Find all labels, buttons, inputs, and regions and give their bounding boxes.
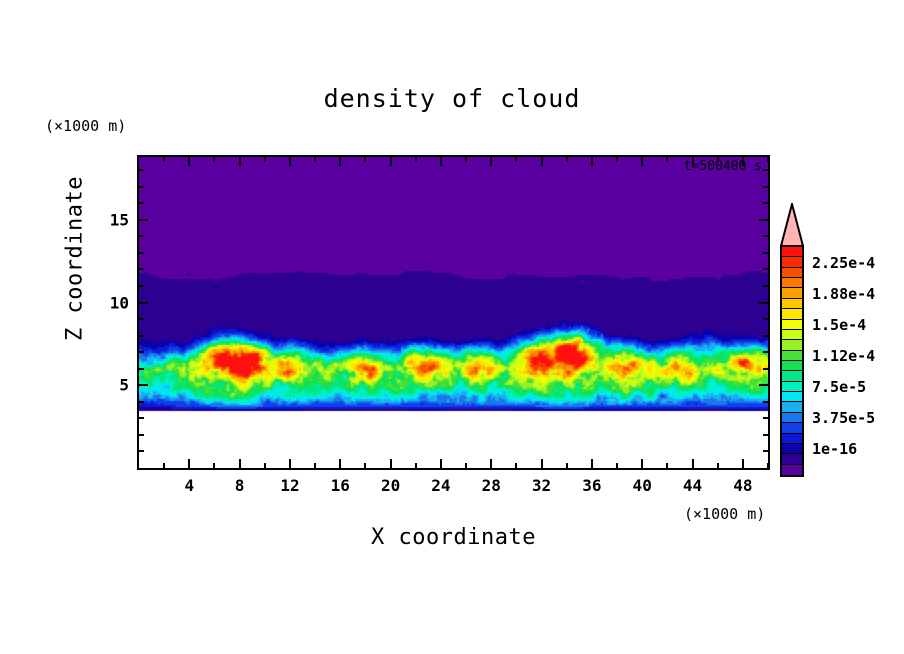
colorbar-tick-label: 1.5e-4	[812, 316, 866, 334]
axis-tick	[139, 450, 144, 452]
axis-tick	[763, 401, 768, 403]
x-tick-label: 44	[683, 476, 702, 495]
x-axis-units-label: (×1000 m)	[684, 505, 765, 523]
axis-tick	[390, 157, 392, 166]
axis-tick	[139, 285, 144, 287]
colorbar-tick-label: 1.12e-4	[812, 347, 875, 365]
axis-tick	[763, 450, 768, 452]
axis-tick	[139, 202, 144, 204]
axis-tick	[763, 285, 768, 287]
contour-field	[139, 157, 768, 468]
axis-tick	[239, 459, 241, 468]
axis-tick	[289, 459, 291, 468]
colorbar-swatch	[782, 454, 802, 464]
colorbar-tick-label: 3.75e-5	[812, 409, 875, 427]
axis-tick	[763, 235, 768, 237]
axis-tick	[314, 157, 316, 162]
axis-tick	[591, 459, 593, 468]
colorbar-swatch	[782, 320, 802, 330]
axis-tick	[666, 157, 668, 162]
colorbar-overflow-arrow-icon	[780, 203, 804, 247]
x-tick-label: 28	[482, 476, 501, 495]
axis-tick	[264, 463, 266, 468]
y-tick-label: 15	[95, 210, 129, 229]
colorbar-swatch	[782, 268, 802, 278]
axis-tick	[541, 157, 543, 166]
x-tick-label: 8	[235, 476, 245, 495]
axis-tick	[339, 459, 341, 468]
axis-tick	[490, 157, 492, 166]
axis-tick	[264, 157, 266, 162]
colorbar-swatch	[782, 330, 802, 340]
colorbar-swatch	[782, 309, 802, 319]
colorbar-swatch	[782, 351, 802, 361]
axis-tick	[566, 157, 568, 162]
axis-tick	[139, 434, 144, 436]
axis-tick	[314, 463, 316, 468]
axis-tick	[163, 463, 165, 468]
axis-tick	[692, 459, 694, 468]
axis-tick	[759, 384, 768, 386]
axis-tick	[742, 459, 744, 468]
axis-tick	[188, 157, 190, 166]
colorbar-swatch	[782, 444, 802, 454]
colorbar-swatch	[782, 413, 802, 423]
colorbar-swatch	[782, 434, 802, 444]
axis-tick	[641, 157, 643, 166]
colorbar-swatch	[782, 402, 802, 412]
axis-tick	[541, 459, 543, 468]
axis-tick	[163, 157, 165, 162]
x-tick-label: 40	[633, 476, 652, 495]
axis-tick	[440, 459, 442, 468]
chart-title: density of cloud	[0, 84, 904, 113]
axis-tick	[139, 169, 144, 171]
x-tick-label: 32	[532, 476, 551, 495]
figure-canvas: density of cloud (×1000 m) t=500400 s 48…	[0, 0, 904, 654]
axis-tick	[364, 463, 366, 468]
axis-tick	[139, 401, 144, 403]
colorbar-swatch	[782, 278, 802, 288]
x-tick-label: 4	[184, 476, 194, 495]
axis-tick	[717, 463, 719, 468]
axis-tick	[763, 417, 768, 419]
axis-tick	[763, 268, 768, 270]
axis-tick	[767, 463, 769, 468]
colorbar-swatch	[782, 361, 802, 371]
x-tick-label: 12	[280, 476, 299, 495]
axis-tick	[763, 351, 768, 353]
plot-area: t=500400 s	[137, 155, 770, 470]
y-axis-title: Z coordinate	[63, 159, 88, 359]
colorbar-swatch	[782, 299, 802, 309]
axis-tick	[139, 368, 144, 370]
axis-tick	[763, 202, 768, 204]
colorbar-swatch	[782, 382, 802, 392]
x-tick-label: 36	[582, 476, 601, 495]
axis-tick	[759, 219, 768, 221]
x-tick-label: 48	[733, 476, 752, 495]
x-tick-label: 24	[431, 476, 450, 495]
time-annotation: t=500400 s	[684, 159, 762, 174]
axis-tick	[440, 157, 442, 166]
colorbar-swatch	[782, 392, 802, 402]
axis-tick	[139, 318, 144, 320]
axis-tick	[763, 252, 768, 254]
colorbar-swatch	[782, 340, 802, 350]
colorbar-swatch	[782, 257, 802, 267]
axis-tick	[390, 459, 392, 468]
axis-tick	[465, 463, 467, 468]
axis-tick	[515, 157, 517, 162]
axis-tick	[616, 463, 618, 468]
axis-tick	[139, 235, 144, 237]
colorbar-swatch	[782, 423, 802, 433]
axis-tick	[767, 157, 769, 162]
axis-tick	[139, 219, 148, 221]
axis-tick	[415, 157, 417, 162]
y-tick-label: 10	[95, 293, 129, 312]
axis-tick	[759, 302, 768, 304]
axis-tick	[139, 252, 144, 254]
axis-tick	[213, 463, 215, 468]
axis-tick	[763, 335, 768, 337]
y-axis-units-label: (×1000 m)	[45, 117, 126, 135]
colorbar: 2.25e-41.88e-41.5e-41.12e-47.5e-53.75e-5…	[780, 203, 900, 483]
axis-tick	[339, 157, 341, 166]
colorbar-scale	[780, 245, 804, 477]
axis-tick	[139, 268, 144, 270]
axis-tick	[641, 459, 643, 468]
x-tick-label: 16	[331, 476, 350, 495]
colorbar-tick-label: 1e-16	[812, 440, 857, 458]
axis-tick	[139, 351, 144, 353]
axis-tick	[763, 368, 768, 370]
axis-tick	[188, 459, 190, 468]
axis-tick	[591, 157, 593, 166]
axis-tick	[465, 157, 467, 162]
axis-tick	[139, 186, 144, 188]
colorbar-tick-label: 1.88e-4	[812, 285, 875, 303]
colorbar-swatch	[782, 247, 802, 257]
axis-tick	[213, 157, 215, 162]
axis-tick	[139, 417, 144, 419]
y-tick-label: 5	[95, 376, 129, 395]
axis-tick	[415, 463, 417, 468]
axis-tick	[139, 335, 144, 337]
axis-tick	[763, 318, 768, 320]
axis-tick	[139, 302, 148, 304]
x-axis-title: X coordinate	[137, 525, 770, 550]
colorbar-swatch	[782, 465, 802, 475]
colorbar-swatch	[782, 371, 802, 381]
axis-tick	[239, 157, 241, 166]
axis-tick	[763, 186, 768, 188]
axis-tick	[139, 384, 148, 386]
axis-tick	[763, 169, 768, 171]
axis-tick	[566, 463, 568, 468]
axis-tick	[289, 157, 291, 166]
axis-tick	[490, 459, 492, 468]
colorbar-tick-label: 7.5e-5	[812, 378, 866, 396]
axis-tick	[616, 157, 618, 162]
axis-tick	[666, 463, 668, 468]
x-tick-label: 20	[381, 476, 400, 495]
colorbar-swatch	[782, 288, 802, 298]
axis-tick	[515, 463, 517, 468]
colorbar-tick-label: 2.25e-4	[812, 254, 875, 272]
axis-tick	[763, 434, 768, 436]
axis-tick	[364, 157, 366, 162]
